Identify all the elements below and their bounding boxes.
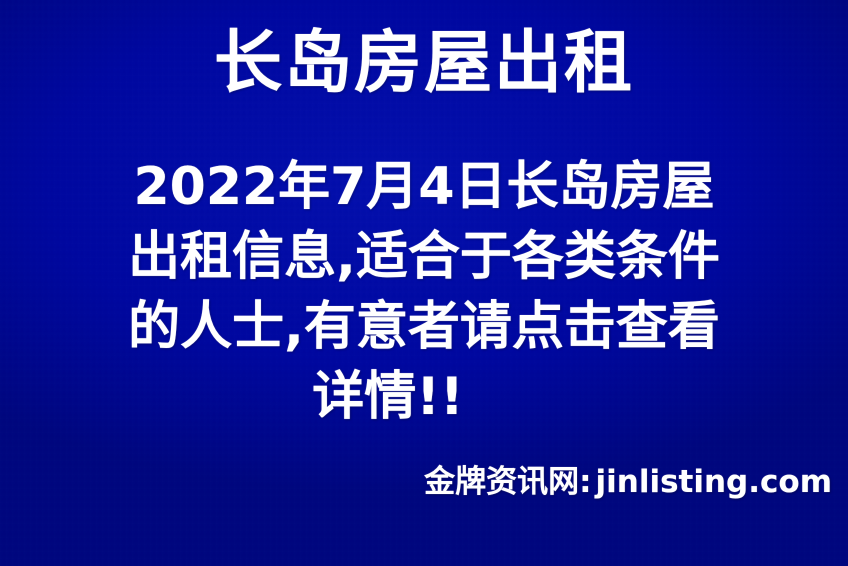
body-line: 详情!! [0,362,848,432]
poster-canvas: 长岛房屋出租 2022年7月4日长岛房屋 出租信息,适合于各类条件 的人士,有意… [0,0,848,566]
site-url[interactable]: jinlisting.com [596,464,832,500]
footer-attribution: 金牌资讯网:jinlisting.com [424,456,832,501]
site-label: 金牌资讯网: [424,464,591,500]
page-title: 长岛房屋出租 [0,26,848,102]
body-line: 出租信息,适合于各类条件 [0,222,848,292]
body-text-block: 2022年7月4日长岛房屋 出租信息,适合于各类条件 的人士,有意者请点击查看 … [0,152,848,432]
body-line: 2022年7月4日长岛房屋 [0,152,848,222]
body-line: 的人士,有意者请点击查看 [0,292,848,362]
